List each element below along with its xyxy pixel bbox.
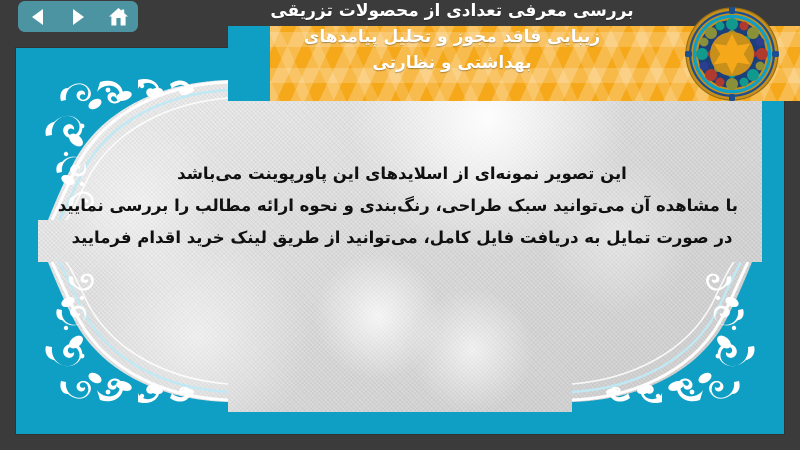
slide-frame: این تصویر نمونه‌ای از اسلایدهای این پاور… xyxy=(16,48,784,434)
body-line-3: در صورت تمایل به دریافت فایل کامل، می‌تو… xyxy=(66,222,738,254)
previous-slide-button[interactable] xyxy=(23,4,53,30)
slide-body-text: این تصویر نمونه‌ای از اسلایدهای این پاور… xyxy=(66,158,738,254)
body-line-1: این تصویر نمونه‌ای از اسلایدهای این پاور… xyxy=(66,158,738,190)
home-icon xyxy=(108,7,129,27)
slide-viewer-stage: بررسی معرفی تعدادی از محصولات تزریقی زیب… xyxy=(0,0,800,450)
arabesque-ornament-bottom-right xyxy=(572,262,762,412)
home-slide-button[interactable] xyxy=(103,4,133,30)
arabesque-ornament-bottom-left xyxy=(38,262,228,412)
persian-medallion-ornament xyxy=(684,6,780,102)
banner-arrow-tab xyxy=(216,26,270,101)
triangle-right-icon xyxy=(70,8,86,26)
title-line-1: بررسی معرفی تعدادی از محصولات تزریقی xyxy=(222,0,682,24)
slide-content-area: این تصویر نمونه‌ای از اسلایدهای این پاور… xyxy=(38,70,762,412)
next-slide-button[interactable] xyxy=(63,4,93,30)
slide-navigation-bar xyxy=(18,1,138,32)
body-line-2: با مشاهده آن می‌توانید سبک طراحی، رنگ‌بن… xyxy=(66,190,738,222)
triangle-left-icon xyxy=(30,8,46,26)
